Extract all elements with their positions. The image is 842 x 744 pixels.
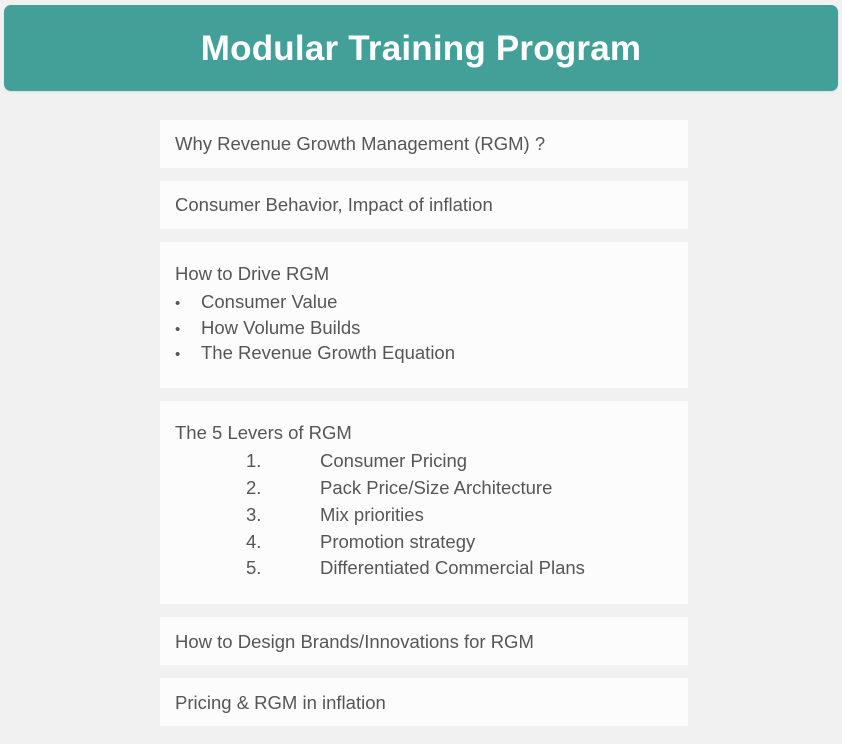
page-title: Modular Training Program <box>201 31 641 66</box>
list-item: • How Volume Builds <box>175 315 688 341</box>
list-item: 5. Differentiated Commercial Plans <box>175 555 688 582</box>
module-card-how-to-drive-rgm[interactable]: How to Drive RGM • Consumer Value • How … <box>160 242 688 388</box>
bullet-icon: • <box>175 345 201 364</box>
list-item: 4. Promotion strategy <box>175 529 688 556</box>
module-title: How to Drive RGM <box>175 262 688 286</box>
module-card-consumer-behavior[interactable]: Consumer Behavior, Impact of inflation <box>160 181 688 229</box>
list-item-label: How Volume Builds <box>201 316 360 340</box>
module-title: The 5 Levers of RGM <box>175 421 688 445</box>
list-item-label: Promotion strategy <box>320 529 475 556</box>
list-item-label: Mix priorities <box>320 502 424 529</box>
header-banner: Modular Training Program <box>4 5 838 91</box>
module-title: Consumer Behavior, Impact of inflation <box>175 193 493 216</box>
list-item-label: Consumer Pricing <box>320 448 467 475</box>
list-item: 3. Mix priorities <box>175 502 688 529</box>
list-item-number: 5. <box>246 555 320 582</box>
list-item-number: 2. <box>246 475 320 502</box>
module-title: Pricing & RGM in inflation <box>175 691 386 714</box>
list-item: • Consumer Value <box>175 289 688 315</box>
list-item-label: Differentiated Commercial Plans <box>320 555 585 582</box>
bullet-list: • Consumer Value • How Volume Builds • T… <box>175 289 688 366</box>
slide-canvas: Modular Training Program Why Revenue Gro… <box>0 0 842 744</box>
list-item: 2. Pack Price/Size Architecture <box>175 475 688 502</box>
module-list: Why Revenue Growth Management (RGM) ? Co… <box>160 120 688 726</box>
module-card-why-rgm[interactable]: Why Revenue Growth Management (RGM) ? <box>160 120 688 168</box>
module-card-pricing-inflation[interactable]: Pricing & RGM in inflation <box>160 678 688 726</box>
list-item-label: Pack Price/Size Architecture <box>320 475 552 502</box>
bullet-icon: • <box>175 320 201 339</box>
module-card-design-brands[interactable]: How to Design Brands/Innovations for RGM <box>160 617 688 665</box>
numbered-list: 1. Consumer Pricing 2. Pack Price/Size A… <box>175 448 688 582</box>
list-item-number: 3. <box>246 502 320 529</box>
list-item-number: 4. <box>246 529 320 556</box>
list-item-number: 1. <box>246 448 320 475</box>
list-item: 1. Consumer Pricing <box>175 448 688 475</box>
bullet-icon: • <box>175 294 201 313</box>
module-title: How to Design Brands/Innovations for RGM <box>175 630 534 653</box>
list-item-label: The Revenue Growth Equation <box>201 341 455 365</box>
module-title: Why Revenue Growth Management (RGM) ? <box>175 132 545 155</box>
module-card-five-levers[interactable]: The 5 Levers of RGM 1. Consumer Pricing … <box>160 401 688 604</box>
list-item-label: Consumer Value <box>201 290 337 314</box>
list-item: • The Revenue Growth Equation <box>175 340 688 366</box>
